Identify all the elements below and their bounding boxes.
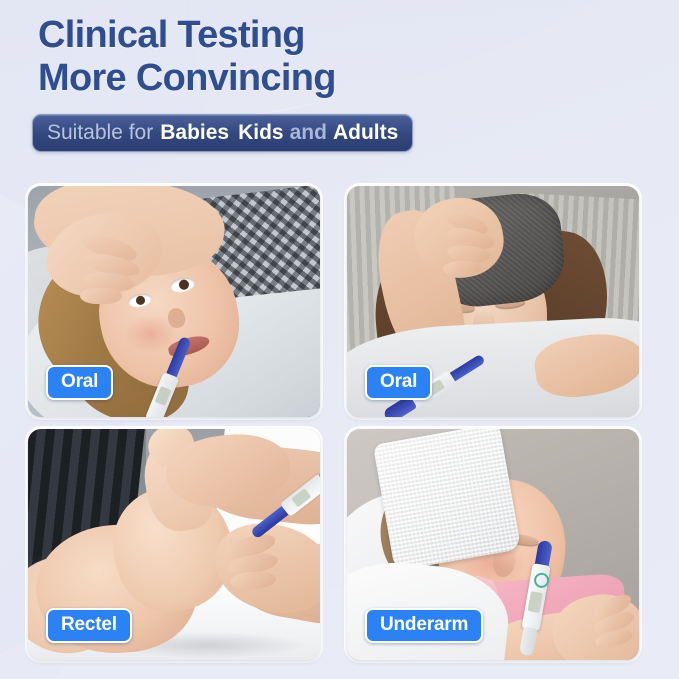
photo-grid: Oral [28,186,651,674]
banner-prefix: Suitable for [47,122,153,143]
photo-panel-rectal: Rectel [28,429,320,660]
product-infographic: Clinical Testing More Convincing Suitabl… [0,0,679,679]
page-title-line-1: Clinical Testing [38,14,659,57]
photo-panel-oral-adult: Oral [347,186,639,417]
banner-audience-kids: Kids [238,122,284,143]
badge-oral-child: Oral [46,365,113,400]
thermometer-tip [519,626,538,656]
page-title: Clinical Testing More Convincing [38,14,659,100]
badge-oral-adult: Oral [365,365,432,400]
banner-conjunction: and [290,122,327,143]
photo-panel-oral-child: Oral [28,186,320,417]
header: Clinical Testing More Convincing Suitabl… [38,14,659,152]
white-towel-compress [373,429,521,571]
page-title-line-2: More Convincing [38,57,659,100]
finger [80,288,122,304]
photo-panel-underarm: Underarm [347,429,639,660]
banner-audience-adults: Adults [333,122,398,143]
suitability-banner: Suitable for Babies Kids and Adults [32,114,413,152]
banner-audience-babies: Babies [160,122,229,143]
badge-underarm: Underarm [365,608,483,643]
badge-rectal: Rectel [46,608,132,643]
